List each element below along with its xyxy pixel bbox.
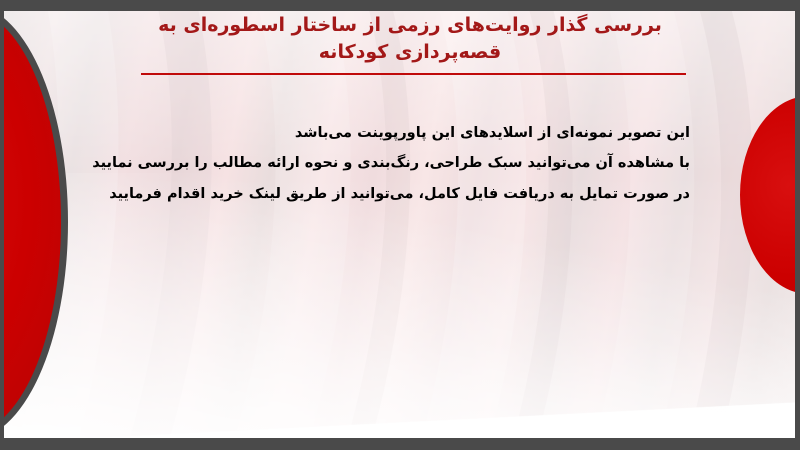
frame-left-band <box>0 0 4 450</box>
slide-body-block: این تصویر نمونه‌ای از اسلایدهای این پاور… <box>90 122 690 206</box>
body-line-3: در صورت تمایل به دریافت فایل کامل، می‌تو… <box>90 183 690 206</box>
background-streaks-decoration <box>4 11 795 438</box>
frame-bottom-band <box>0 438 800 450</box>
slide-content-panel <box>4 11 795 438</box>
title-underline-rule <box>141 73 686 75</box>
frame-top-band <box>0 0 800 11</box>
body-line-2: با مشاهده آن می‌توانید سبک طراحی، رنگ‌بن… <box>90 152 690 175</box>
slide-title-block: بررسی گذار روایت‌های رزمی از ساختار اسطو… <box>120 12 700 66</box>
frame-right-band <box>795 0 800 450</box>
body-line-1: این تصویر نمونه‌ای از اسلایدهای این پاور… <box>90 122 690 145</box>
slide-title: بررسی گذار روایت‌های رزمی از ساختار اسطو… <box>120 12 700 66</box>
presentation-slide: بررسی گذار روایت‌های رزمی از ساختار اسطو… <box>0 0 800 450</box>
